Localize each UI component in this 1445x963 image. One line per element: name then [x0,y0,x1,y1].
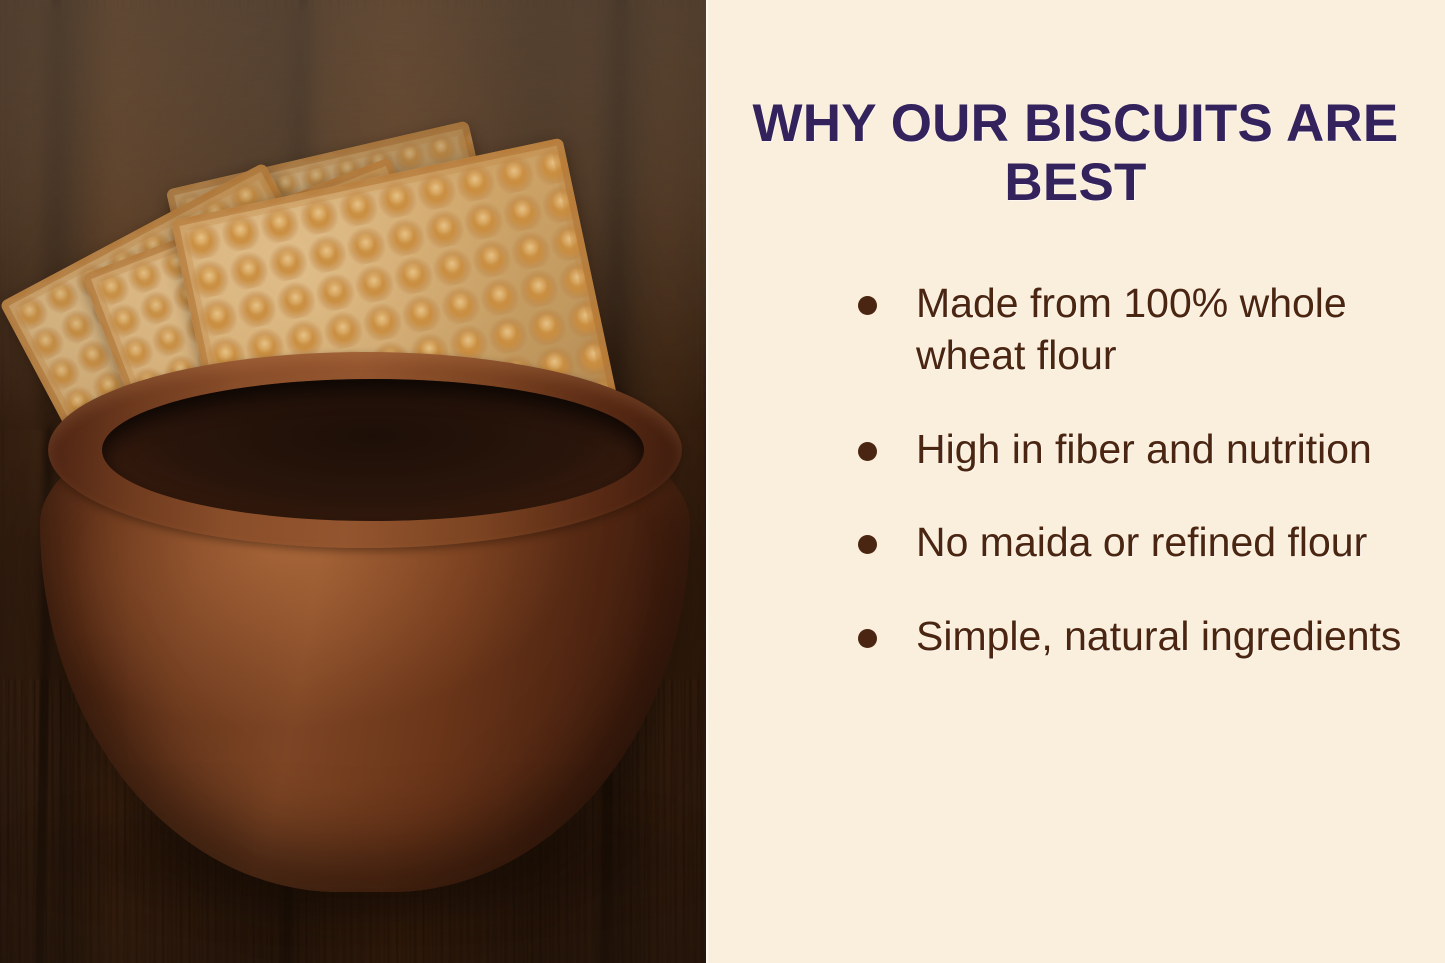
list-item: Simple, natural ingredients [850,610,1411,662]
benefits-list: Made from 100% whole wheat flour High in… [740,213,1411,662]
list-item: High in fiber and nutrition [850,423,1411,475]
list-item-label: No maida or refined flour [916,516,1411,568]
list-item: Made from 100% whole wheat flour [850,277,1411,382]
bowl-rim [48,352,682,548]
list-item: No maida or refined flour [850,516,1411,568]
product-photo [0,0,706,963]
list-item-label: High in fiber and nutrition [916,423,1411,475]
wooden-bowl [40,352,690,892]
list-item-label: Made from 100% whole wheat flour [916,277,1411,382]
bullet-dot-icon [858,296,877,315]
page-title: WHY OUR BISCUITS ARE BEST [740,0,1411,213]
panel-divider [706,0,709,963]
list-item-label: Simple, natural ingredients [916,610,1411,662]
promo-graphic: WHY OUR BISCUITS ARE BEST Made from 100%… [0,0,1445,963]
copy-panel: WHY OUR BISCUITS ARE BEST Made from 100%… [706,0,1445,963]
bowl-rim-inner [102,379,644,521]
bullet-dot-icon [858,629,877,648]
bullet-dot-icon [858,535,877,554]
bullet-dot-icon [858,442,877,461]
